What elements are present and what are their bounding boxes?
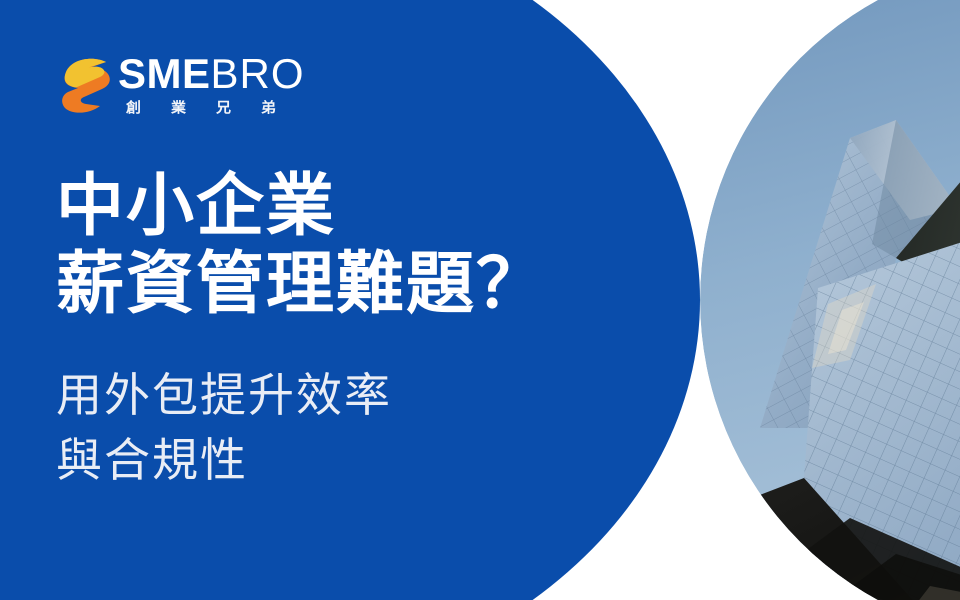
- subheadline-line-2: 與合規性: [56, 428, 676, 493]
- brand-logo: SMEBRO 創 業 兄 弟: [56, 52, 305, 118]
- headline-line-2: 薪資管理難題？: [56, 246, 676, 324]
- subheadline-line-1: 用外包提升效率: [56, 363, 676, 428]
- headline-block: 中小企業 薪資管理難題？ 用外包提升效率 與合規性: [56, 168, 676, 494]
- building-photo-circle: [700, 0, 960, 600]
- lightning-s-icon: [56, 54, 118, 116]
- logo-subtitle-char-4: 弟: [261, 98, 276, 118]
- logo-subtitle: 創 業 兄 弟: [126, 97, 276, 118]
- headline-line-1: 中小企業: [56, 168, 676, 246]
- logo-subtitle-char-1: 創: [126, 98, 141, 118]
- logo-subtitle-char-3: 兄: [216, 98, 231, 118]
- banner-canvas: SMEBRO 創 業 兄 弟 中小企業 薪資管理難題？ 用外包提升效率 與合規性: [0, 0, 960, 600]
- subheadline-block: 用外包提升效率 與合規性: [56, 363, 676, 494]
- logo-word-bro: BRO: [211, 50, 305, 97]
- logo-word-sme: SME: [118, 50, 211, 97]
- logo-subtitle-char-2: 業: [171, 98, 186, 118]
